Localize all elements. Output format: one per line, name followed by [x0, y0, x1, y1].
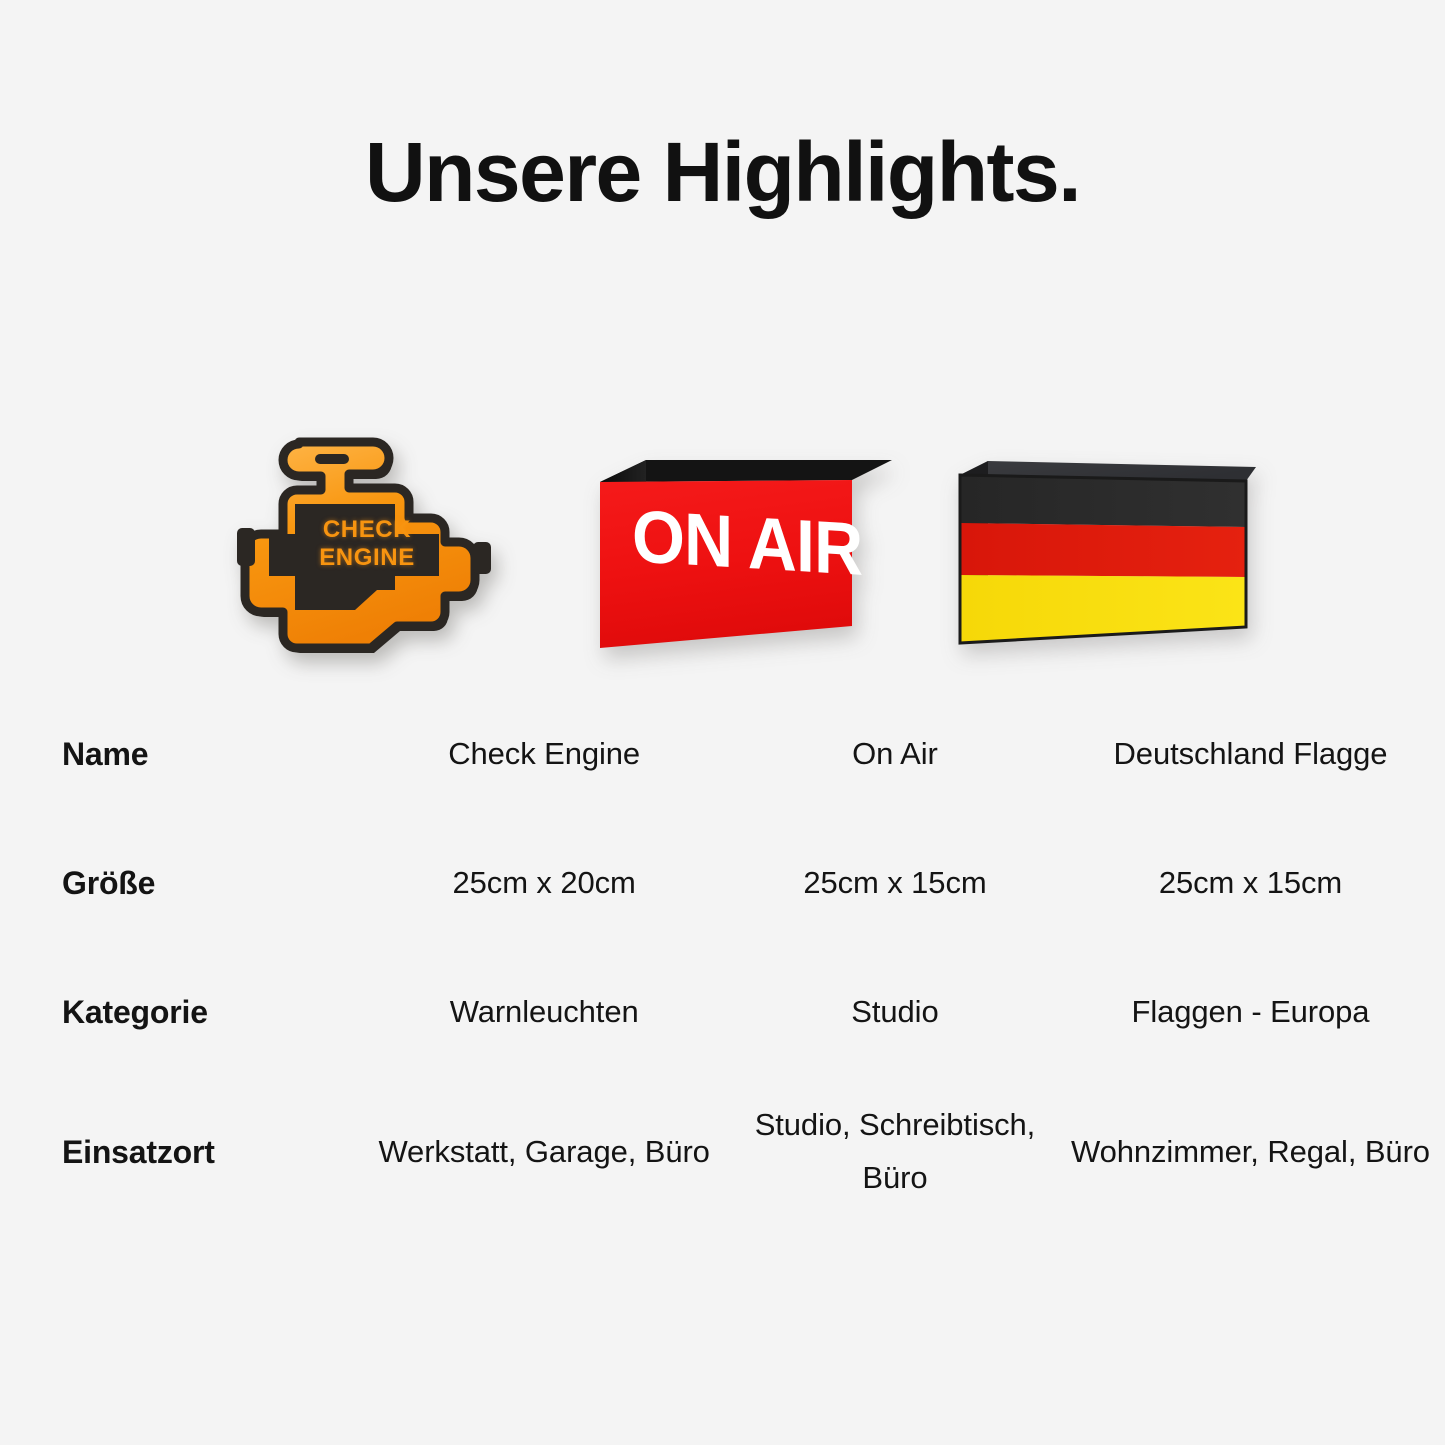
german-flag-box-icon	[954, 453, 1260, 658]
table-row: Name Check Engine On Air Deutschland Fla…	[0, 690, 1445, 819]
spec-row-label: Größe	[0, 819, 354, 948]
spec-cell-on-air: Studio, Schreibtisch, Büro	[734, 1077, 1056, 1227]
spec-cell-check-engine: Check Engine	[354, 690, 734, 819]
spec-cell-on-air: 25cm x 15cm	[734, 819, 1056, 948]
spec-cell-deutschland-flagge: Wohnzimmer, Regal, Büro	[1056, 1077, 1445, 1227]
table-row: Kategorie Warnleuchten Studio Flaggen - …	[0, 948, 1445, 1077]
on-air-box-icon	[590, 450, 895, 658]
product-spec-table: Name Check Engine On Air Deutschland Fla…	[0, 690, 1445, 1227]
spec-cell-on-air: Studio	[734, 948, 1056, 1077]
spec-cell-check-engine: Warnleuchten	[354, 948, 734, 1077]
spec-table-body: Name Check Engine On Air Deutschland Fla…	[0, 690, 1445, 1227]
check-engine-lamp[interactable]: CHECK ENGINE	[211, 432, 521, 658]
page-title: Unsere Highlights.	[0, 128, 1445, 216]
product-image-strip: CHECK ENGINE	[0, 408, 1445, 658]
deutschland-flagge-lightbox[interactable]	[954, 453, 1260, 658]
spec-cell-on-air: On Air	[734, 690, 1056, 819]
spec-row-label: Einsatzort	[0, 1077, 354, 1227]
check-engine-icon	[211, 432, 521, 658]
spec-cell-check-engine: Werkstatt, Garage, Büro	[354, 1077, 734, 1227]
spec-cell-check-engine: 25cm x 20cm	[354, 819, 734, 948]
spec-cell-deutschland-flagge: Deutschland Flagge	[1056, 690, 1445, 819]
spec-cell-deutschland-flagge: 25cm x 15cm	[1056, 819, 1445, 948]
spec-row-label: Kategorie	[0, 948, 354, 1077]
table-row: Einsatzort Werkstatt, Garage, Büro Studi…	[0, 1077, 1445, 1227]
table-row: Größe 25cm x 20cm 25cm x 15cm 25cm x 15c…	[0, 819, 1445, 948]
product-image-on-air[interactable]: ON AIR	[572, 408, 912, 658]
spec-row-label: Name	[0, 690, 354, 819]
product-image-deutschland-flagge[interactable]	[937, 408, 1277, 658]
highlights-page: Unsere Highlights.	[0, 0, 1445, 1445]
on-air-lightbox[interactable]: ON AIR	[590, 450, 895, 658]
product-image-check-engine[interactable]: CHECK ENGINE	[180, 408, 552, 658]
spec-cell-deutschland-flagge: Flaggen - Europa	[1056, 948, 1445, 1077]
